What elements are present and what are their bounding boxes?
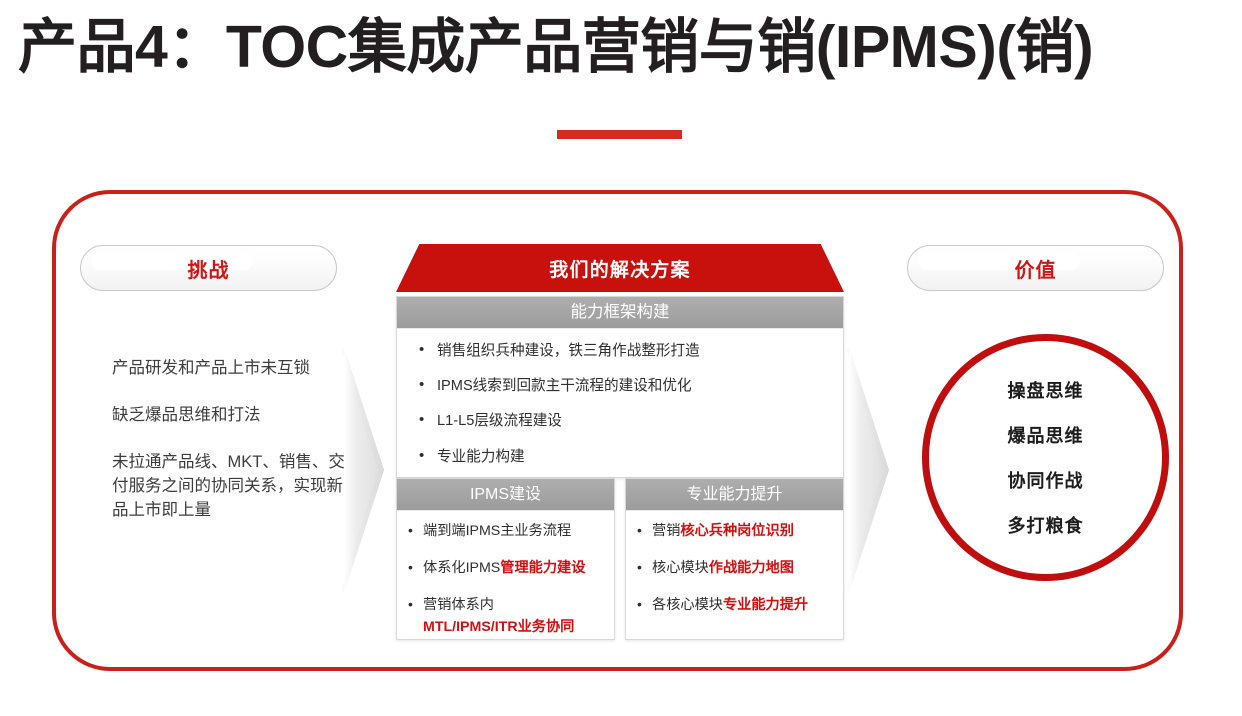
title-accent-rule	[557, 130, 682, 139]
framework-header: 能力框架构建	[397, 297, 843, 329]
challenge-item: 未拉通产品线、MKT、销售、交付服务之间的协同关系，实现新品上市即上量	[112, 451, 352, 523]
arrow-right-icon	[845, 345, 893, 595]
list-item-highlight: 管理能力建设	[500, 560, 585, 576]
page-title: 产品4：TOC集成产品营销与销(IPMS)(销)	[18, 14, 1228, 80]
list-item-text: 营销体系内	[423, 597, 494, 613]
list-item-highlight: 核心兵种岗位识别	[680, 523, 794, 539]
challenge-pill-label: 挑战	[188, 254, 230, 283]
list-item-highlight: MTL/IPMS/ITR业务协同	[423, 618, 606, 637]
list-item: 爆品思维	[1008, 422, 1084, 448]
subsection-professional: 专业能力提升 营销核心兵种岗位识别 核心模块作战能力地图 各核心模块专业能力提升	[625, 478, 844, 640]
list-item-text: 营销	[652, 523, 680, 539]
value-circle: 操盘思维 爆品思维 协同作战 多打粮食	[922, 334, 1169, 581]
arrow-right-icon	[340, 345, 388, 595]
list-item-highlight: 作战能力地图	[709, 560, 794, 576]
list-item: IPMS线索到回款主干流程的建设和优化	[397, 377, 843, 395]
list-item: 操盘思维	[1008, 377, 1084, 403]
list-item: 专业能力构建	[397, 448, 843, 466]
list-item-text: 各核心模块	[652, 597, 723, 613]
list-item: 各核心模块专业能力提升	[626, 596, 843, 615]
list-item: 体系化IPMS管理能力建设	[397, 559, 614, 578]
list-item: 端到端IPMS主业务流程	[397, 522, 614, 541]
list-item-highlight: 专业能力提升	[723, 597, 808, 613]
subsection-ipms: IPMS建设 端到端IPMS主业务流程 体系化IPMS管理能力建设 营销体系内 …	[396, 478, 615, 640]
slide-canvas: 产品4：TOC集成产品营销与销(IPMS)(销) 挑战 产品研发和产品上市未互锁…	[0, 0, 1242, 716]
solution-banner: 我们的解决方案	[396, 244, 844, 292]
value-list: 操盘思维 爆品思维 协同作战 多打粮食	[1008, 377, 1084, 538]
subsection-header: 专业能力提升	[626, 479, 843, 511]
framework-list: 销售组织兵种建设，铁三角作战整形打造 IPMS线索到回款主干流程的建设和优化 L…	[397, 329, 843, 466]
framework-panel: 能力框架构建 销售组织兵种建设，铁三角作战整形打造 IPMS线索到回款主干流程的…	[396, 296, 844, 478]
subsection-list: 端到端IPMS主业务流程 体系化IPMS管理能力建设 营销体系内 MTL/IPM…	[397, 511, 614, 637]
challenge-item: 缺乏爆品思维和打法	[112, 404, 352, 428]
list-item-text: 体系化IPMS	[423, 560, 500, 576]
value-pill: 价值	[907, 245, 1164, 291]
solution-banner-label: 我们的解决方案	[549, 255, 690, 282]
list-item: 核心模块作战能力地图	[626, 559, 843, 578]
list-item-text: 端到端IPMS主业务流程	[423, 523, 571, 539]
list-item: 营销体系内 MTL/IPMS/ITR业务协同	[397, 596, 614, 636]
list-item: 营销核心兵种岗位识别	[626, 522, 843, 541]
challenge-pill: 挑战	[80, 245, 337, 291]
challenge-text-block: 产品研发和产品上市未互锁 缺乏爆品思维和打法 未拉通产品线、MKT、销售、交付服…	[112, 357, 352, 523]
list-item: 销售组织兵种建设，铁三角作战整形打造	[397, 342, 843, 360]
list-item: L1-L5层级流程建设	[397, 412, 843, 430]
challenge-item: 产品研发和产品上市未互锁	[112, 357, 352, 381]
value-pill-label: 价值	[1015, 254, 1057, 283]
list-item: 多打粮食	[1008, 512, 1084, 538]
subsection-list: 营销核心兵种岗位识别 核心模块作战能力地图 各核心模块专业能力提升	[626, 511, 843, 616]
list-item: 协同作战	[1008, 467, 1084, 493]
list-item-text: 核心模块	[652, 560, 709, 576]
subsection-header: IPMS建设	[397, 479, 614, 511]
